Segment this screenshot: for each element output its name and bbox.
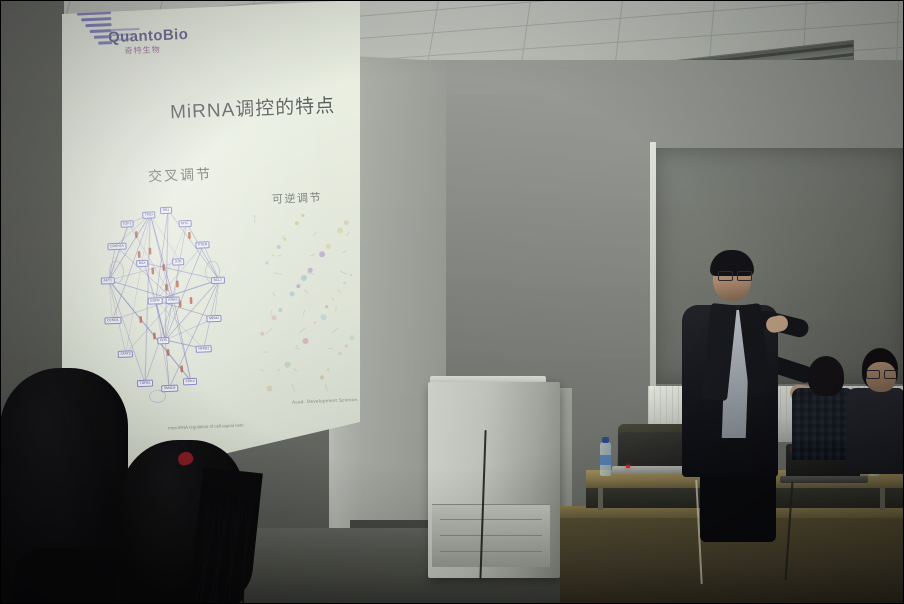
- logo-wordmark: QuantoBio: [108, 26, 189, 46]
- pathway-node: [338, 352, 342, 356]
- attendee-plaid-shirt-body: [792, 388, 854, 460]
- table-leg-left: [598, 488, 603, 510]
- network-diagram: TP53RB1E2F1MYCCDKN1APTENAKT1BCL2CCND1MDM…: [98, 198, 235, 418]
- pathway-node: [283, 238, 286, 241]
- pathway-node: [272, 254, 274, 256]
- network-node: CDKN1A: [107, 243, 126, 250]
- pathway-node: [290, 291, 295, 296]
- pathway-node: [266, 385, 272, 391]
- network-node: MYC: [179, 220, 192, 227]
- bottle-cap-icon: [602, 437, 609, 443]
- pathway-connector: [304, 289, 308, 293]
- pathway-node: [295, 221, 299, 225]
- pathway-node: [332, 298, 334, 300]
- network-node: E2F1: [120, 220, 134, 227]
- pathway-node: [350, 274, 352, 276]
- network-node: KRAS: [166, 296, 181, 303]
- pathway-connector: [274, 272, 282, 274]
- pathway-node: [271, 315, 276, 320]
- network-node: STAT3: [118, 350, 133, 357]
- logo-bar: [81, 17, 111, 21]
- pathway-node: [349, 335, 354, 340]
- slide-citation-left: microRNA regulation of cell-signal nets: [168, 422, 244, 430]
- copier-drawer-seam: [440, 535, 542, 536]
- pathway-connector: [263, 352, 268, 353]
- pathway-connector: [335, 307, 336, 312]
- network-node: RB1: [160, 207, 172, 214]
- pathway-node: [278, 369, 280, 371]
- radiator-fin: [780, 386, 781, 442]
- pathway-node: [326, 244, 331, 249]
- pathway-node: [260, 332, 264, 336]
- pathway-connector: [346, 231, 349, 236]
- pathway-node: [320, 314, 326, 320]
- pathway-connector: [293, 368, 297, 372]
- pathway-node: [319, 251, 325, 257]
- pathway-connector: [337, 289, 341, 294]
- network-node: SMAD4: [161, 385, 178, 392]
- pathway-connector: [332, 328, 339, 333]
- pathway-node: [284, 362, 290, 368]
- bottle-label: [600, 455, 611, 465]
- logo-bar: [85, 23, 111, 27]
- pathway-connector: [270, 310, 272, 315]
- pathway-node: [345, 344, 348, 347]
- pathway-node: [337, 227, 343, 233]
- copier-drawer-seam: [440, 551, 542, 552]
- pathway-node: [327, 368, 330, 371]
- network-node: NFKB1: [196, 345, 212, 352]
- copier-paper-drawer[interactable]: [432, 504, 550, 567]
- pathway-connector: [254, 215, 255, 223]
- pathway-connector: [303, 310, 305, 315]
- pathway-node: [320, 375, 324, 379]
- network-node: TP53: [142, 211, 156, 218]
- attendee-plaid-shirt-head: [808, 356, 844, 396]
- pathway-node: [325, 305, 328, 308]
- pathway-node: [343, 281, 346, 284]
- presenter-glasses-icon: [718, 271, 750, 279]
- pathway-node: [301, 214, 304, 217]
- radiator-fin: [786, 386, 787, 442]
- pathway-connector: [313, 231, 316, 236]
- network-node: AKT1: [101, 277, 115, 284]
- attendee-glasses-icon: [866, 370, 896, 377]
- table-leg-right: [880, 488, 885, 510]
- slide-section-left: 交叉调节: [148, 164, 213, 187]
- pathway-connector: [328, 348, 333, 349]
- network-node: PTEN: [195, 241, 209, 248]
- network-node: CDK4: [183, 378, 197, 385]
- network-node: CCND1: [104, 317, 121, 324]
- pathway-connector: [325, 384, 328, 392]
- pathway-connector: [307, 272, 315, 275]
- pathway-connector: [342, 250, 347, 253]
- wall-display-panel-frame: [650, 142, 656, 390]
- pathway-node: [277, 245, 281, 249]
- attendee-glasses-body: [846, 388, 904, 474]
- pathway-connector: [299, 328, 305, 334]
- pathway-node: [344, 220, 349, 225]
- laptop-left-led-icon: [626, 465, 630, 468]
- copier-drawer-seam: [440, 519, 542, 520]
- logo-chinese-text: 奇特生物: [124, 44, 160, 56]
- pathway-node: [296, 284, 300, 288]
- network-node: FOS: [157, 337, 169, 344]
- pathway-connector: [310, 254, 315, 256]
- audience-member-left-shoulders: [14, 548, 118, 604]
- pathway-connector: [260, 368, 265, 371]
- pathway-node: [278, 308, 282, 312]
- pathway-connector: [292, 384, 296, 392]
- logo-bar: [77, 11, 111, 15]
- pathway-diagram: [246, 203, 362, 402]
- pathway-connector: [340, 271, 348, 275]
- pathway-node: [265, 261, 268, 264]
- network-node: MDM2: [206, 315, 221, 322]
- network-node: BAX: [136, 260, 148, 267]
- slide-title: MiRNA调控的特点: [170, 91, 336, 125]
- pathway-connector: [277, 254, 282, 256]
- pathway-node: [301, 275, 307, 281]
- pathway-node: [302, 338, 308, 344]
- pathway-node: [314, 322, 316, 324]
- network-node: JUN: [172, 258, 184, 265]
- pathway-connector: [273, 292, 276, 297]
- pathway-node: [296, 345, 298, 347]
- network-node: BCL2: [211, 277, 225, 284]
- pathway-connector: [266, 328, 272, 335]
- quantobio-logo: QuantoBio 奇特生物: [77, 6, 199, 67]
- water-bottle[interactable]: [600, 442, 611, 476]
- network-node: EGFR: [148, 297, 163, 304]
- presentation-room-photo: QuantoBio 奇特生物 MiRNA调控的特点 交叉调节 可逆调节 TP53…: [0, 0, 904, 604]
- pathway-connector: [295, 348, 300, 350]
- network-node: TGFB1: [137, 380, 153, 387]
